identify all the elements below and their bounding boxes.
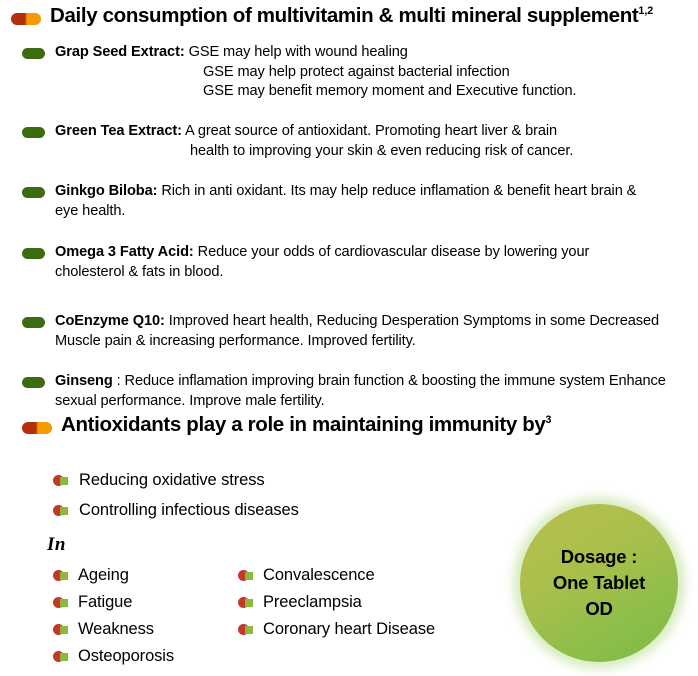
supplement-name: CoEnzyme Q10: <box>55 313 165 329</box>
condition-row: Ageing <box>53 566 129 585</box>
supplement-name: Ginkgo Biloba: <box>55 183 157 199</box>
condition-label: Osteoporosis <box>78 647 174 666</box>
duo-dot-bullet-icon <box>53 623 68 636</box>
antioxidant-point-row: Reducing oxidative stress <box>53 471 265 490</box>
duo-pill-bullet-icon <box>22 422 52 434</box>
green-pill-bullet-icon <box>22 317 45 328</box>
condition-row: Convalescence <box>238 566 375 585</box>
condition-row: Weakness <box>53 620 154 639</box>
supplement-item-text: Ginseng : Reduce inflamation improving b… <box>55 372 688 411</box>
antioxidant-heading-superscript: 3 <box>545 414 551 426</box>
supplement-item-text: Green Tea Extract: A great source of ant… <box>55 122 573 161</box>
supplement-item-text: Ginkgo Biloba: Rich in anti oxidant. Its… <box>55 182 662 221</box>
green-pill-bullet-icon <box>22 48 45 59</box>
page-title-text: Daily consumption of multivitamin & mult… <box>50 4 638 27</box>
condition-label: Convalescence <box>263 566 375 585</box>
duo-dot-bullet-icon <box>238 596 253 609</box>
supplement-name: Green Tea Extract: <box>55 123 182 139</box>
duo-dot-bullet-icon <box>238 623 253 636</box>
condition-label: Fatigue <box>78 593 132 612</box>
supplement-item-ginkgo-biloba: Ginkgo Biloba: Rich in anti oxidant. Its… <box>22 182 662 221</box>
supplement-name: Omega 3 Fatty Acid: <box>55 244 194 260</box>
duo-dot-bullet-icon <box>53 474 68 487</box>
condition-row: Preeclampsia <box>238 593 362 612</box>
main-heading-row: Daily consumption of multivitamin & mult… <box>11 6 653 27</box>
supplement-item-grap-seed-extract: Grap Seed Extract: GSE may help with wou… <box>22 43 682 102</box>
duo-pill-bullet-icon <box>11 13 41 25</box>
green-pill-bullet-icon <box>22 248 45 259</box>
page-title-superscript: 1,2 <box>638 5 653 17</box>
duo-dot-bullet-icon <box>53 596 68 609</box>
dosage-line-2: One Tablet <box>553 570 645 596</box>
green-pill-bullet-icon <box>22 127 45 138</box>
duo-dot-bullet-icon <box>53 650 68 663</box>
condition-label: Coronary heart Disease <box>263 620 435 639</box>
supplement-line-1: GSE may help with wound healing <box>185 44 408 60</box>
green-pill-bullet-icon <box>22 377 45 388</box>
antioxidant-point-label: Controlling infectious diseases <box>79 501 299 520</box>
duo-dot-bullet-icon <box>53 504 68 517</box>
antioxidant-heading-row: Antioxidants play a role in maintaining … <box>22 415 551 436</box>
condition-label: Weakness <box>78 620 154 639</box>
supplement-name: Grap Seed Extract: <box>55 44 185 60</box>
antioxidant-point-row: Controlling infectious diseases <box>53 501 299 520</box>
supplement-line-2: GSE may help protect against bacterial i… <box>55 63 577 83</box>
condition-row: Fatigue <box>53 593 132 612</box>
antioxidant-point-label: Reducing oxidative stress <box>79 471 265 490</box>
supplement-item-ginseng: Ginseng : Reduce inflamation improving b… <box>22 372 688 411</box>
green-pill-bullet-icon <box>22 187 45 198</box>
duo-dot-bullet-icon <box>238 569 253 582</box>
supplement-item-text: Omega 3 Fatty Acid: Reduce your odds of … <box>55 243 662 282</box>
dosage-circle: Dosage : One Tablet OD <box>520 504 678 662</box>
condition-label: Preeclampsia <box>263 593 362 612</box>
condition-label: Ageing <box>78 566 129 585</box>
dosage-callout: Dosage : One Tablet OD <box>513 497 685 669</box>
supplement-line-1: A great source of antioxidant. Promoting… <box>182 123 557 139</box>
supplement-item-omega-3-fatty-acid: Omega 3 Fatty Acid: Reduce your odds of … <box>22 243 662 282</box>
supplement-item-coenzyme-q10: CoEnzyme Q10: Improved heart health, Red… <box>22 312 694 351</box>
supplement-item-green-tea-extract: Green Tea Extract: A great source of ant… <box>22 122 687 161</box>
supplement-name: Ginseng <box>55 373 113 389</box>
supplement-item-text: CoEnzyme Q10: Improved heart health, Red… <box>55 312 694 351</box>
supplement-line-2: health to improving your skin & even red… <box>55 142 573 162</box>
supplement-line-1: : Reduce inflamation improving brain fun… <box>55 373 666 409</box>
condition-row: Coronary heart Disease <box>238 620 435 639</box>
supplement-line-3: GSE may benefit memory moment and Execut… <box>55 82 577 102</box>
supplement-item-text: Grap Seed Extract: GSE may help with wou… <box>55 43 577 102</box>
page-title: Daily consumption of multivitamin & mult… <box>50 6 653 27</box>
duo-dot-bullet-icon <box>53 569 68 582</box>
conditions-section-label: In <box>47 534 66 556</box>
antioxidant-heading-text: Antioxidants play a role in maintaining … <box>61 413 545 436</box>
antioxidant-heading: Antioxidants play a role in maintaining … <box>61 415 551 436</box>
dosage-line-1: Dosage : <box>561 544 638 570</box>
condition-row: Osteoporosis <box>53 647 174 666</box>
dosage-line-3: OD <box>585 596 612 622</box>
